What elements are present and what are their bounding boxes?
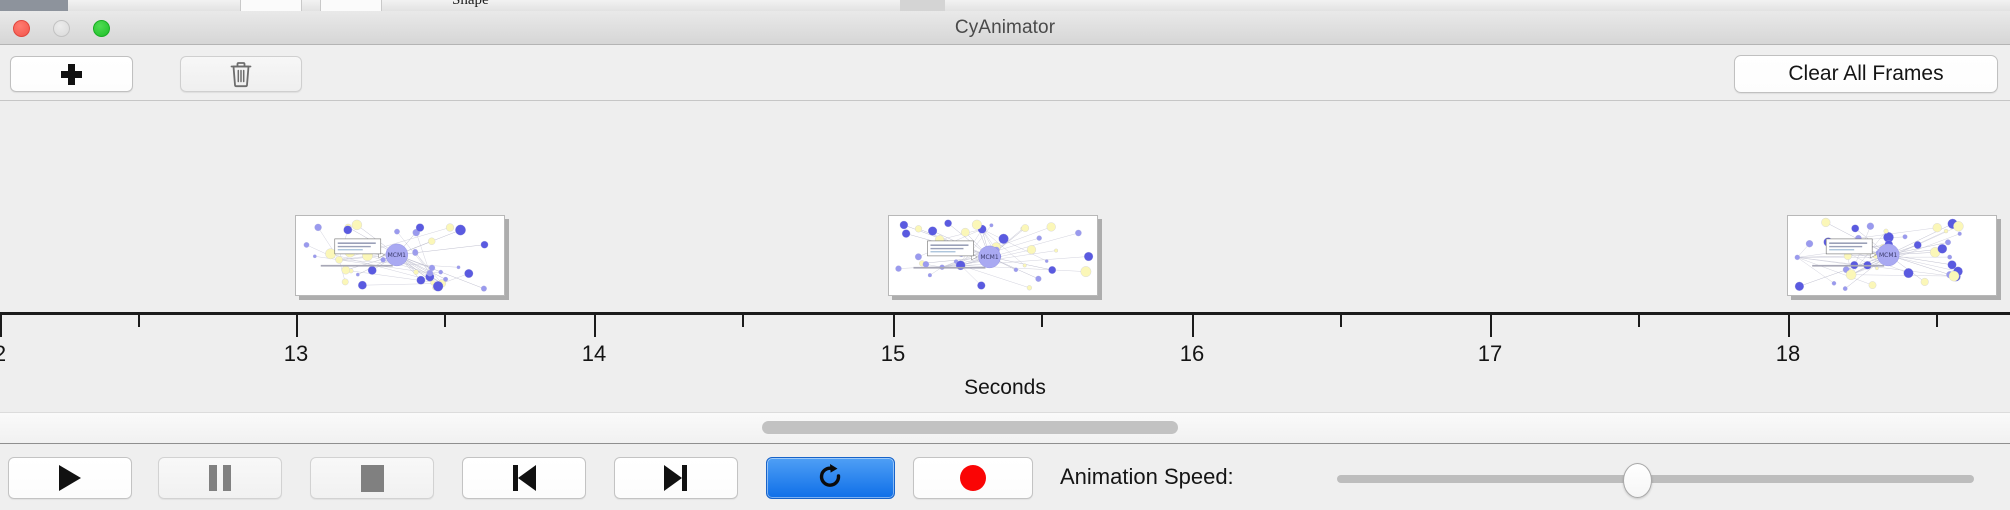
skip-back-icon xyxy=(512,465,536,491)
frame-preview-image: MCM1 xyxy=(295,215,505,296)
axis-line xyxy=(0,312,2010,315)
axis-tick-major xyxy=(893,315,895,337)
play-icon xyxy=(59,465,81,491)
animation-speed-label: Animation Speed: xyxy=(1060,464,1234,490)
axis-tick-minor xyxy=(1936,315,1938,327)
add-frame-button[interactable] xyxy=(10,56,133,92)
stop-icon xyxy=(361,465,384,492)
record-icon xyxy=(960,465,986,491)
loop-button[interactable] xyxy=(766,457,895,499)
clear-all-frames-button[interactable]: Clear All Frames xyxy=(1734,55,1998,93)
axis-tick-major xyxy=(1490,315,1492,337)
axis-title-label: Seconds xyxy=(0,376,2010,400)
axis-tick-major xyxy=(296,315,298,337)
animation-speed-slider[interactable] xyxy=(1337,475,1974,483)
axis-tick-label: 14 xyxy=(582,341,606,367)
axis-tick-label: 16 xyxy=(1180,341,1204,367)
axis-tick-minor xyxy=(138,315,140,327)
axis-tick-major xyxy=(1788,315,1790,337)
axis-tick-label: 18 xyxy=(1776,341,1800,367)
background-window-label: Shape xyxy=(452,0,489,9)
pause-button[interactable] xyxy=(158,457,282,499)
horizontal-scrollbar[interactable] xyxy=(0,412,2010,444)
background-window-segment xyxy=(240,0,302,11)
axis-tick-major xyxy=(594,315,596,337)
background-window-segment xyxy=(320,0,382,11)
toolbar: Clear All Frames xyxy=(0,45,2010,101)
cyanimator-window: Shape CyAnimator Clear All Frames MCM1MC… xyxy=(0,0,2010,510)
axis-tick-minor xyxy=(742,315,744,327)
next-frame-button[interactable] xyxy=(614,457,738,499)
timeline-frame-thumbnail[interactable]: MCM1 xyxy=(295,215,509,300)
axis-tick-minor xyxy=(444,315,446,327)
background-window-strip: Shape xyxy=(0,0,2010,11)
axis-tick-major xyxy=(1192,315,1194,337)
axis-tick-label: 13 xyxy=(284,341,308,367)
scrollbar-thumb[interactable] xyxy=(762,421,1178,434)
svg-text:MCM1: MCM1 xyxy=(1879,252,1898,259)
axis-tick-label: 17 xyxy=(1478,341,1502,367)
pause-icon xyxy=(209,465,231,491)
timeline-frame-thumbnail[interactable]: MCM1 xyxy=(888,215,1102,300)
frame-preview-image: MCM1 xyxy=(888,215,1098,296)
background-window-dark-region xyxy=(0,0,68,11)
axis-tick-major xyxy=(0,315,2,337)
axis-tick-minor xyxy=(1340,315,1342,327)
background-window-gray-block xyxy=(900,0,945,11)
svg-text:MCM1: MCM1 xyxy=(980,254,999,261)
trash-icon xyxy=(228,60,254,88)
timeline-frame-thumbnail[interactable]: MCM1 xyxy=(1787,215,2001,300)
axis-tick-minor xyxy=(1638,315,1640,327)
slider-track[interactable] xyxy=(1337,475,1974,483)
title-bar: CyAnimator xyxy=(0,11,2010,45)
window-title: CyAnimator xyxy=(0,17,2010,39)
delete-frame-button[interactable] xyxy=(180,56,302,92)
plus-icon xyxy=(61,64,82,85)
skip-forward-icon xyxy=(664,465,688,491)
play-button[interactable] xyxy=(8,457,132,499)
frame-preview-image: MCM1 xyxy=(1787,215,1997,296)
axis-tick-minor xyxy=(1041,315,1043,327)
stop-button[interactable] xyxy=(310,457,434,499)
axis-tick-label: 15 xyxy=(881,341,905,367)
previous-frame-button[interactable] xyxy=(462,457,586,499)
axis-tick-label: 2 xyxy=(0,341,6,367)
record-button[interactable] xyxy=(913,457,1033,499)
playback-toolbar: Animation Speed: xyxy=(0,445,2010,510)
svg-text:MCM1: MCM1 xyxy=(388,252,407,259)
timeline-axis: 2131415161718 Seconds xyxy=(0,300,2010,410)
loop-icon xyxy=(816,463,846,493)
slider-thumb[interactable] xyxy=(1623,463,1652,498)
